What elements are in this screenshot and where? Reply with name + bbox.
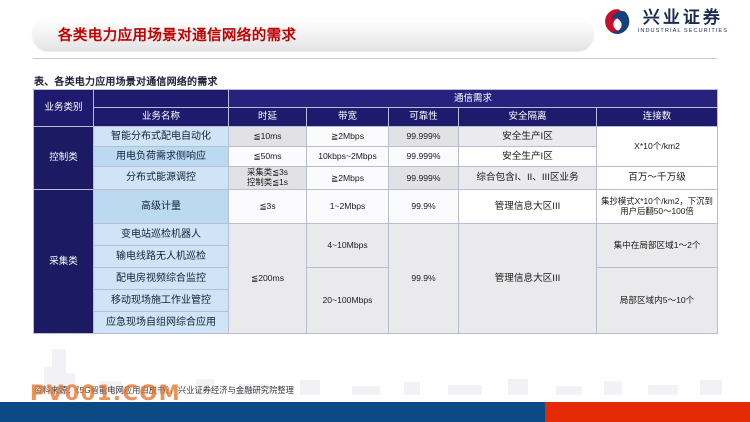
connections-value: 局部区域内5～10个 bbox=[597, 268, 718, 334]
table-row: 控制类 智能分布式配电自动化 ≦10ms ≧2Mbps 99.999% 安全生产… bbox=[34, 127, 718, 147]
requirements-table: 业务类别 通信需求 业务名称 时延 带宽 可靠性 安全隔离 连接数 控制类 智能 bbox=[33, 89, 717, 334]
table-row: 分布式能源调控 采集类≦3s 控制类≦1s ≧2Mbps 99.999% 综合包… bbox=[34, 167, 718, 190]
brand-name-cn: 兴业证券 bbox=[643, 9, 723, 27]
category-acquisition: 采集类 bbox=[34, 190, 94, 334]
bandwidth-value: 1~2Mbps bbox=[307, 190, 389, 224]
page-title-banner: 各类电力应用场景对通信网络的需求 bbox=[33, 19, 593, 50]
footer-bar-blue bbox=[0, 402, 545, 422]
header-spacer bbox=[94, 90, 229, 108]
service-name: 智能分布式配电自动化 bbox=[94, 127, 229, 147]
service-name: 配电房视频综合监控 bbox=[94, 268, 229, 290]
category-control: 控制类 bbox=[34, 127, 94, 190]
service-name: 变电站巡检机器人 bbox=[94, 224, 229, 246]
header-col-isolation: 安全隔离 bbox=[459, 108, 597, 127]
latency-value: 采集类≦3s 控制类≦1s bbox=[229, 167, 307, 190]
swirl-logo-icon bbox=[604, 8, 631, 35]
latency-value: ≦10ms bbox=[229, 127, 307, 147]
connections-value: 集中在局部区域1～2个 bbox=[597, 224, 718, 268]
table-row: 配电房视频综合监控 20~100Mbps 局部区域内5～10个 bbox=[34, 268, 718, 290]
source-note: 资料来源：《5G智能电网应用白皮书》，兴业证券经济与金融研究院整理 bbox=[34, 384, 294, 396]
reliability-value: 99.9% bbox=[389, 190, 459, 224]
connections-value: X*10个/km2 bbox=[597, 127, 718, 167]
brand-logo: 兴业证券 INDUSTRIAL SECURITIES bbox=[604, 8, 728, 35]
service-name: 高级计量 bbox=[94, 190, 229, 224]
connections-value: 集抄模式X*10个/km2，下沉到用户后翻50～100倍 bbox=[597, 190, 718, 224]
latency-value: ≦200ms bbox=[229, 224, 307, 334]
slide-canvas: 各类电力应用场景对通信网络的需求 兴业证券 INDUSTRIAL SECURIT… bbox=[0, 0, 750, 422]
bandwidth-value: 10kbps~2Mbps bbox=[307, 147, 389, 167]
connections-value: 百万～千万级 bbox=[597, 167, 718, 190]
isolation-value: 管理信息大区III bbox=[459, 190, 597, 224]
bandwidth-value: ≧2Mbps bbox=[307, 167, 389, 190]
reliability-value: 99.999% bbox=[389, 147, 459, 167]
latency-value: ≦50ms bbox=[229, 147, 307, 167]
page-title: 各类电力应用场景对通信网络的需求 bbox=[58, 24, 296, 45]
reliability-value: 99.999% bbox=[389, 167, 459, 190]
service-name: 应急现场自组网综合应用 bbox=[94, 312, 229, 334]
reliability-value: 99.999% bbox=[389, 127, 459, 147]
table-caption: 表、各类电力应用场景对通信网络的需求 bbox=[34, 73, 218, 88]
brand-name-en: INDUSTRIAL SECURITIES bbox=[638, 28, 728, 35]
header-group-communication: 通信需求 bbox=[229, 90, 718, 108]
service-name: 输电线路无人机巡检 bbox=[94, 246, 229, 268]
header-col-latency: 时延 bbox=[229, 108, 307, 127]
isolation-value: 安全生产I区 bbox=[459, 147, 597, 167]
footer-bar-red bbox=[545, 402, 750, 422]
latency-line-2: 控制类≦1s bbox=[231, 178, 304, 188]
reliability-value: 99.9% bbox=[389, 224, 459, 334]
isolation-value: 管理信息大区III bbox=[459, 224, 597, 334]
table-header-row-2: 业务名称 时延 带宽 可靠性 安全隔离 连接数 bbox=[34, 108, 718, 127]
latency-value: ≦3s bbox=[229, 190, 307, 224]
bandwidth-value: 4~10Mbps bbox=[307, 224, 389, 268]
service-name: 用电负荷需求侧响应 bbox=[94, 147, 229, 167]
service-name: 分布式能源调控 bbox=[94, 167, 229, 190]
bandwidth-value: ≧2Mbps bbox=[307, 127, 389, 147]
bandwidth-value: 20~100Mbps bbox=[307, 268, 389, 334]
header-col-bandwidth: 带宽 bbox=[307, 108, 389, 127]
header-col-reliability: 可靠性 bbox=[389, 108, 459, 127]
isolation-value: 综合包含I、II、III区业务 bbox=[459, 167, 597, 190]
header-category: 业务类别 bbox=[34, 90, 94, 127]
brand-wordmark: 兴业证券 INDUSTRIAL SECURITIES bbox=[638, 9, 728, 35]
isolation-value: 安全生产I区 bbox=[459, 127, 597, 147]
table-header-row-1: 业务类别 通信需求 bbox=[34, 90, 718, 108]
header-col-name: 业务名称 bbox=[94, 108, 229, 127]
table-row: 采集类 高级计量 ≦3s 1~2Mbps 99.9% 管理信息大区III 集抄模… bbox=[34, 190, 718, 224]
table-row: 变电站巡检机器人 ≦200ms 4~10Mbps 99.9% 管理信息大区III… bbox=[34, 224, 718, 246]
service-name: 移动现场施工作业管控 bbox=[94, 290, 229, 312]
header-divider bbox=[33, 58, 717, 59]
header-col-connections: 连接数 bbox=[597, 108, 718, 127]
